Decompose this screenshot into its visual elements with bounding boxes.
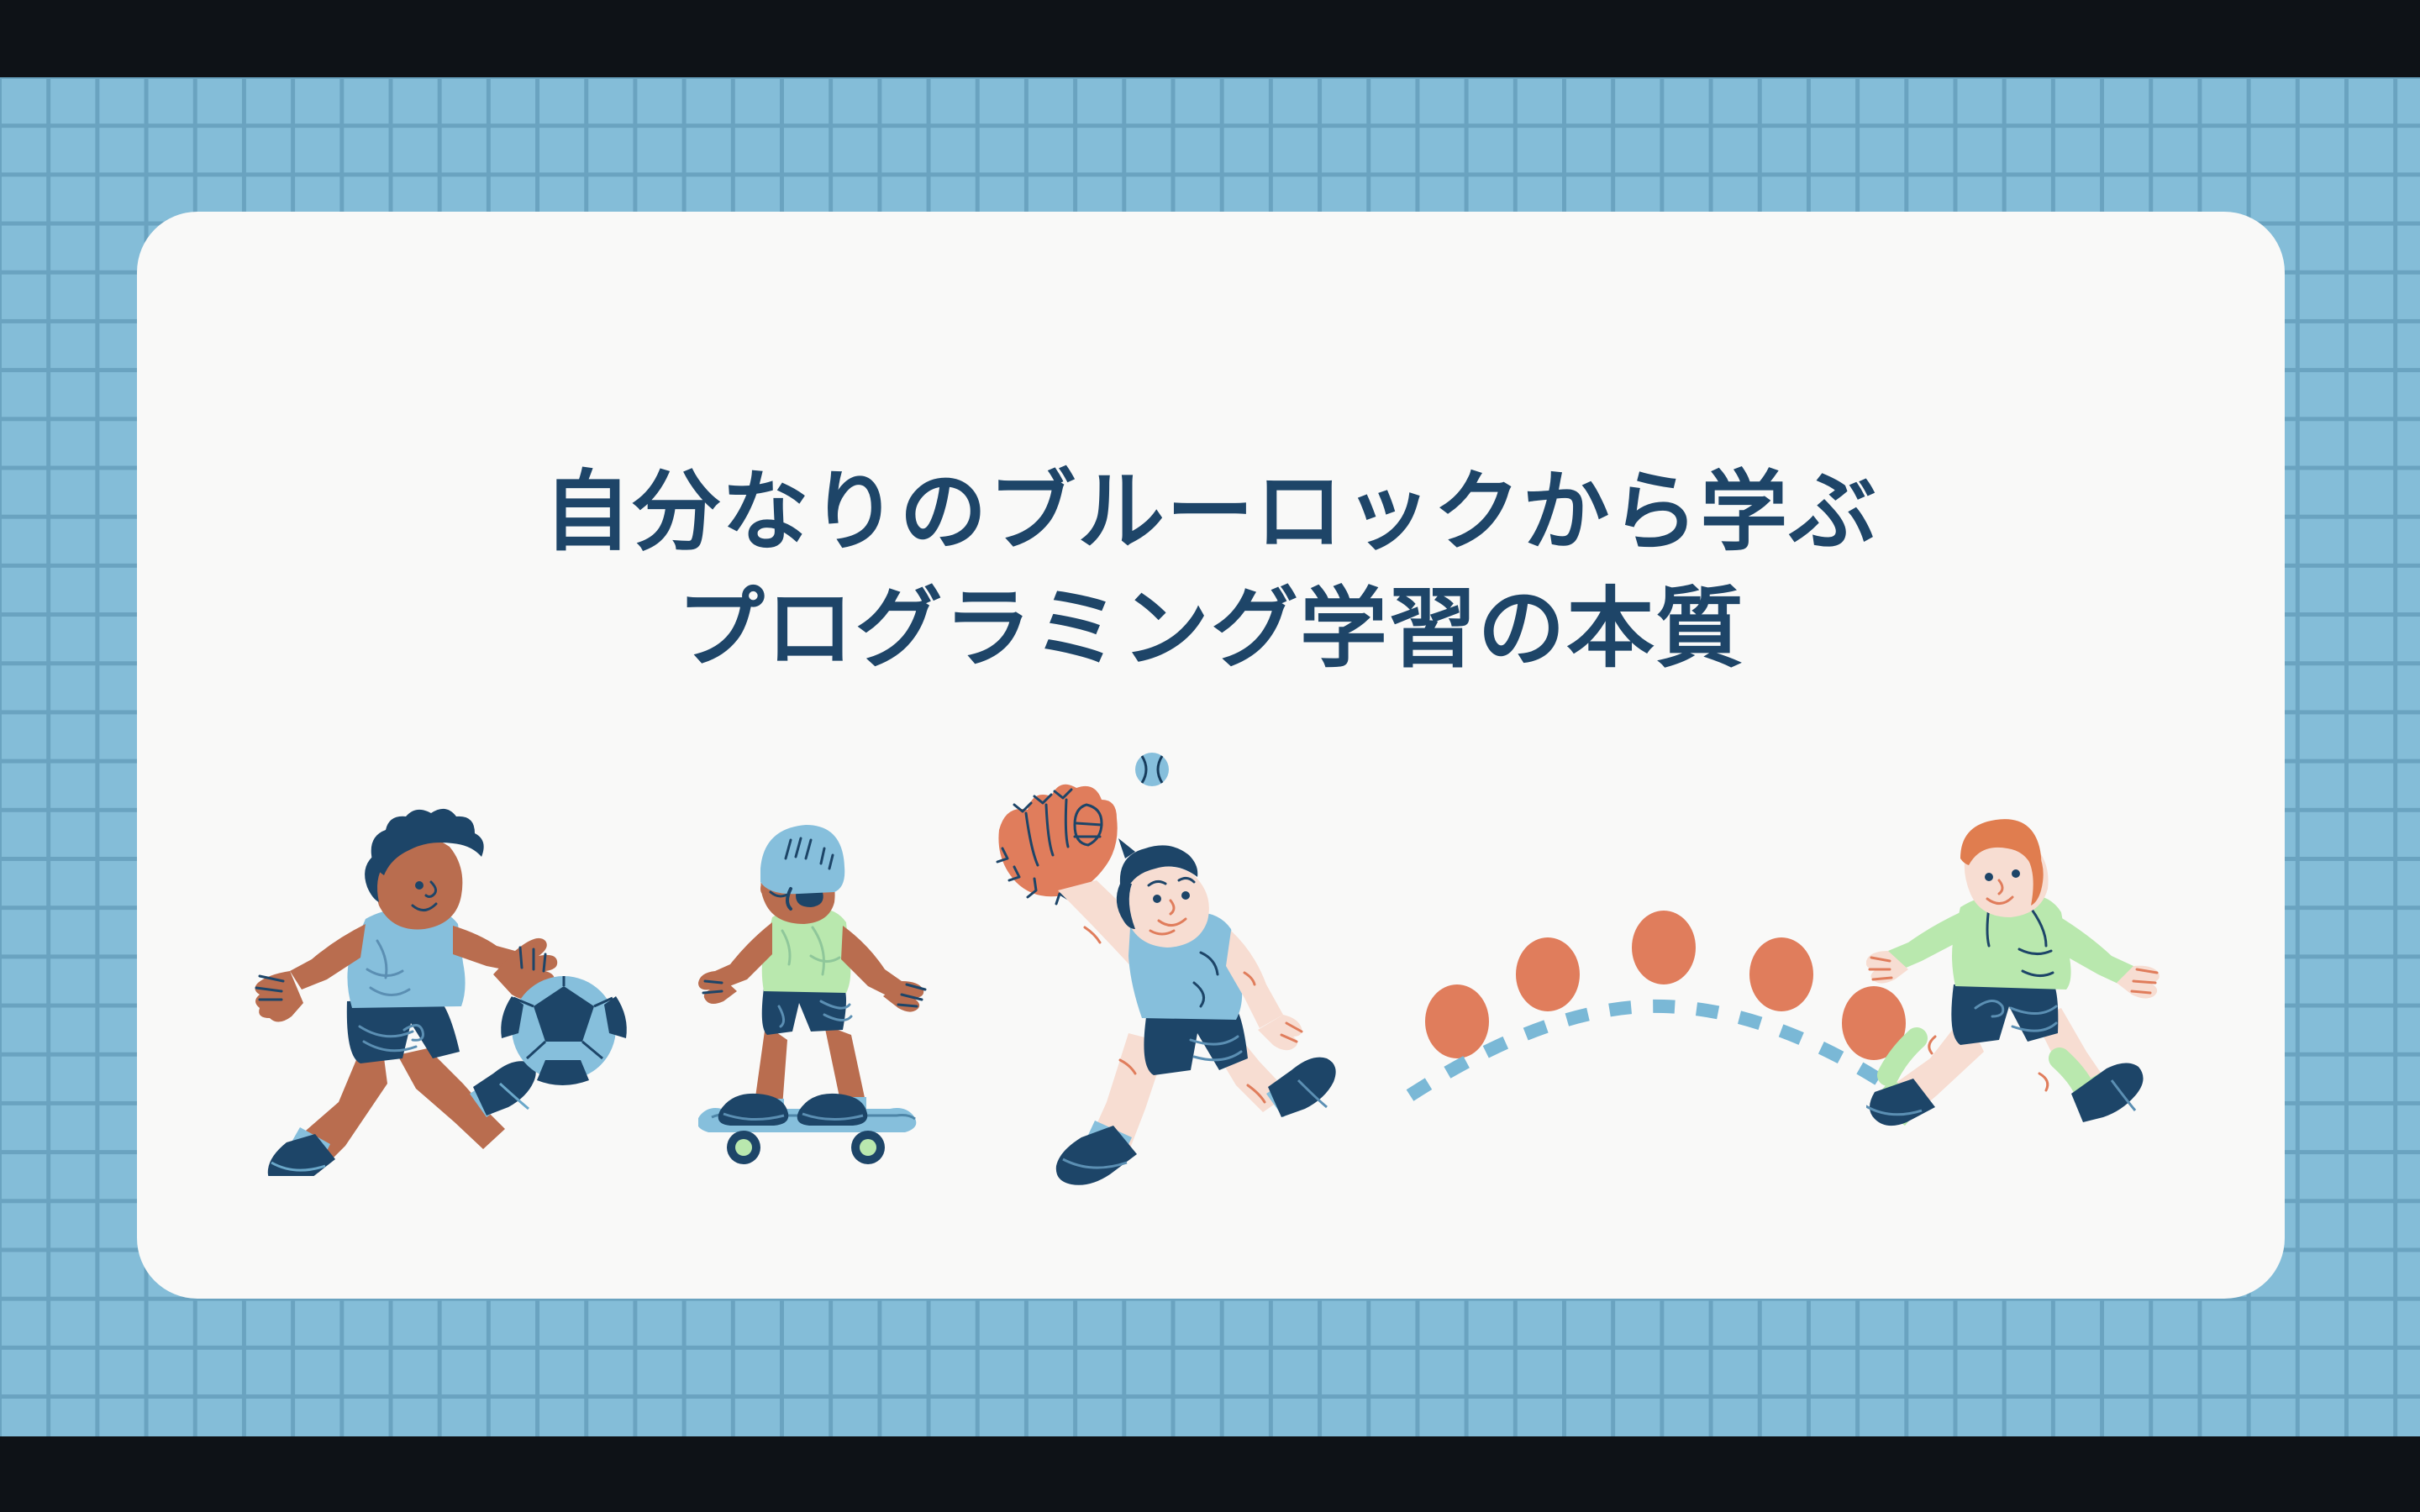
runner-illustration <box>1866 806 2202 1168</box>
runner-eye-left <box>1985 873 1993 881</box>
runner-eye-right <box>2012 869 2020 878</box>
slide-root: 自分なりのブルーロックから学ぶ プログラミング学習の本質 <box>0 0 2420 1512</box>
skateboarder-body <box>698 825 925 1122</box>
page-title: 自分なりのブルーロックから学ぶ プログラミング学習の本質 <box>137 454 2285 688</box>
figure-skateboarder <box>698 815 942 1176</box>
baseball-player-eye-right <box>1181 891 1190 900</box>
orange-dot-1 <box>1425 984 1489 1058</box>
soccer-eye <box>415 881 423 890</box>
skateboarder-illustration <box>698 815 942 1176</box>
content-card: 自分なりのブルーロックから学ぶ プログラミング学習の本質 <box>137 212 2285 1299</box>
hurdle-arc-illustration <box>1402 875 1923 1110</box>
soccer-player-body <box>255 809 557 1176</box>
letterbox-bottom-bar <box>0 1436 2420 1512</box>
letterbox-top-bar <box>0 0 2420 77</box>
orange-dot-3 <box>1632 911 1696 984</box>
figure-baseball-player <box>977 741 1355 1194</box>
figure-runner <box>1866 806 2202 1168</box>
baseball-player-eye-left <box>1153 895 1161 903</box>
baseball <box>1135 753 1169 786</box>
figure-soccer-player <box>238 806 633 1176</box>
figure-hurdle-arc <box>1402 875 1923 1110</box>
title-line-2: プログラミング学習の本質 <box>137 570 2285 687</box>
title-line-1: 自分なりのブルーロックから学ぶ <box>137 454 2285 570</box>
baseball-player-illustration <box>977 741 1355 1194</box>
illustration-strip <box>137 749 2285 1299</box>
orange-dots <box>1402 911 1906 1060</box>
soccer-player-illustration <box>238 806 633 1176</box>
orange-dot-4 <box>1749 937 1813 1011</box>
orange-dot-2 <box>1516 937 1580 1011</box>
